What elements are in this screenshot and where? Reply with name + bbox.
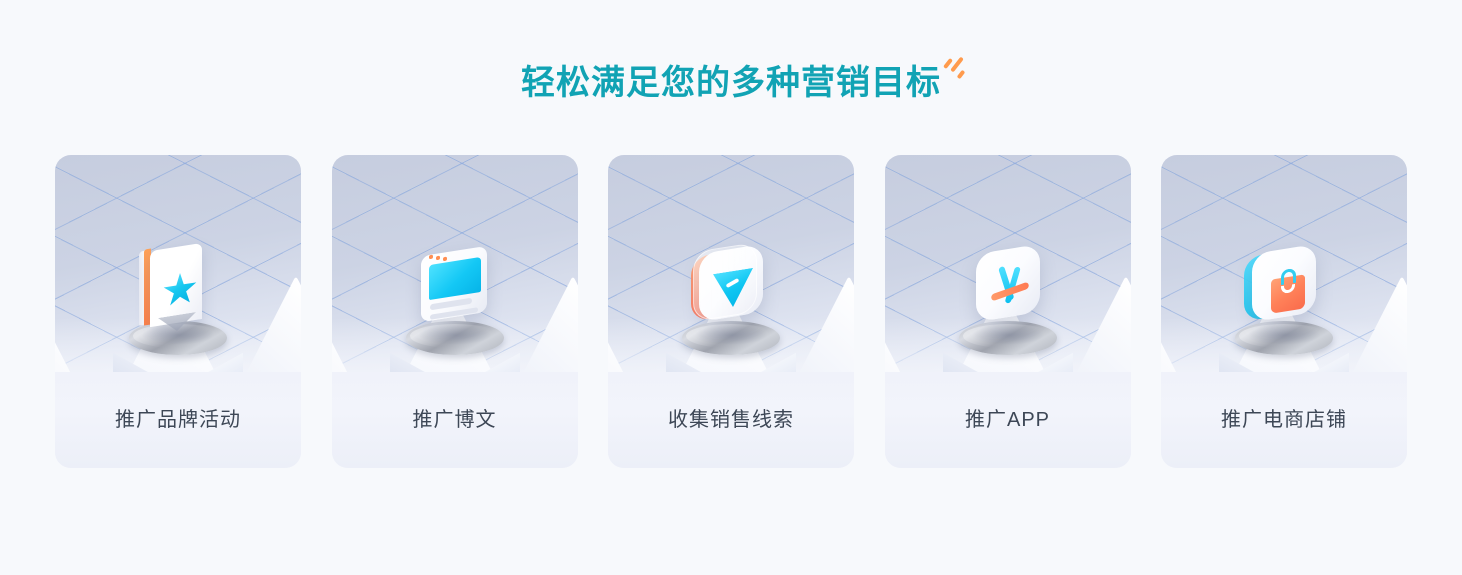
marketing-goal-card-blog-post[interactable]: 推广博文 [332,155,578,468]
browser-window-icon [407,241,503,337]
bookmark-star-icon [130,241,226,337]
card-label: 推广APP [965,406,1050,434]
card-label-band: 推广博文 [332,372,578,468]
marketing-goal-card-list: 推广品牌活动 推广博文 [55,155,1407,468]
app-store-letter-a-icon [960,241,1056,337]
marketing-goal-card-brand-campaign[interactable]: 推广品牌活动 [55,155,301,468]
card-label: 推广博文 [413,406,497,434]
card-label-band: 推广品牌活动 [55,372,301,468]
page-title: 轻松满足您的多种营销目标 [521,60,941,106]
card-label: 收集销售线索 [668,406,794,434]
card-label-band: 收集销售线索 [608,372,854,468]
title-inner: 轻松满足您的多种营销目标 [521,60,941,106]
marketing-goal-card-sales-leads[interactable]: 收集销售线索 [608,155,854,468]
marketing-goal-card-ecommerce-store[interactable]: 推广电商店铺 [1161,155,1407,468]
card-label: 推广电商店铺 [1221,406,1347,434]
card-label: 推广品牌活动 [115,406,241,434]
send-paper-plane-icon [683,241,779,337]
sparkle-icon [943,56,969,82]
card-label-band: 推广APP [885,372,1131,468]
card-label-band: 推广电商店铺 [1161,372,1407,468]
shopping-bag-icon [1236,241,1332,337]
marketing-goal-card-app-promotion[interactable]: 推广APP [885,155,1131,468]
page-header: 轻松满足您的多种营销目标 [0,60,1462,112]
